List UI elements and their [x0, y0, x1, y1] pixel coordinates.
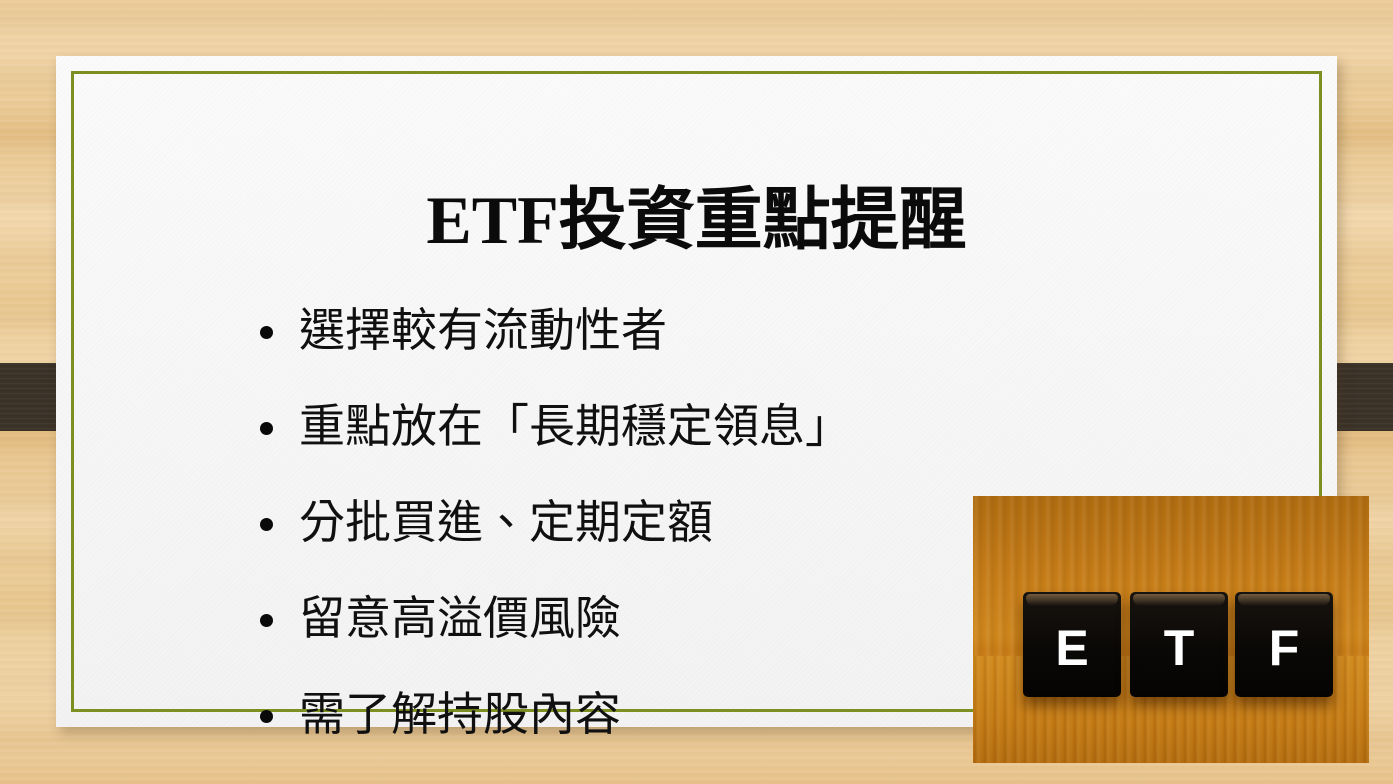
slide-content-card: ETF投資重點提醒 選擇較有流動性者 重點放在「長期穩定領息」 分批買進、定期定… — [56, 56, 1337, 727]
list-item: 選擇較有流動性者 — [252, 296, 952, 392]
list-item: 分批買進、定期定額 — [252, 488, 952, 584]
letter-block-label: E — [1023, 592, 1121, 697]
bullet-dot-icon — [260, 710, 273, 723]
list-item: 需了解持股內容 — [252, 680, 952, 776]
list-item-label: 重點放在「長期穩定領息」 — [299, 401, 851, 452]
etf-blocks-photo: E T F — [973, 496, 1369, 763]
list-item-label: 分批買進、定期定額 — [299, 497, 713, 548]
bullet-dot-icon — [260, 614, 273, 627]
letter-block-f: F — [1235, 592, 1333, 697]
slide-title: ETF投資重點提醒 — [56, 186, 1337, 254]
bullet-dot-icon — [260, 326, 273, 339]
letter-block-label: T — [1130, 592, 1228, 697]
bullet-dot-icon — [260, 422, 273, 435]
list-item-label: 留意高溢價風險 — [299, 593, 621, 644]
list-item-label: 需了解持股內容 — [299, 689, 621, 740]
list-item: 重點放在「長期穩定領息」 — [252, 392, 952, 488]
presentation-slide: ETF投資重點提醒 選擇較有流動性者 重點放在「長期穩定領息」 分批買進、定期定… — [0, 0, 1393, 784]
bullet-list: 選擇較有流動性者 重點放在「長期穩定領息」 分批買進、定期定額 留意高溢價風險 … — [252, 296, 952, 776]
letter-block-e: E — [1023, 592, 1121, 697]
letter-block-label: F — [1235, 592, 1333, 697]
list-item: 留意高溢價風險 — [252, 584, 952, 680]
bullet-dot-icon — [260, 518, 273, 531]
letter-block-t: T — [1130, 592, 1228, 697]
list-item-label: 選擇較有流動性者 — [299, 305, 667, 356]
